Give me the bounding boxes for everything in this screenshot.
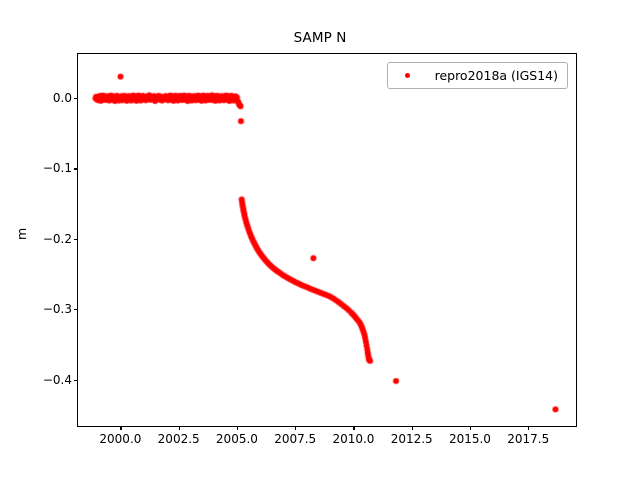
figure-canvas: SAMP N m repro2018a (IGS14) 2000.02002.5…	[0, 0, 640, 480]
y-tick-label: 0.0	[53, 91, 72, 105]
y-tick-mark	[74, 239, 78, 240]
x-tick-label: 2000.0	[99, 432, 141, 446]
legend-dot-icon	[405, 73, 410, 78]
legend-label-repro2018a: repro2018a (IGS14)	[435, 68, 558, 83]
legend[interactable]: repro2018a (IGS14)	[387, 62, 568, 89]
y-tick-label: −0.3	[43, 302, 72, 316]
x-tick-mark	[295, 426, 296, 430]
x-tick-label: 2010.0	[332, 432, 374, 446]
y-tick-label: −0.1	[43, 161, 72, 175]
y-tick-mark	[74, 168, 78, 169]
scatter-plot-canvas	[78, 54, 576, 426]
x-tick-mark	[470, 426, 471, 430]
y-tick-label: −0.4	[43, 373, 72, 387]
x-tick-mark	[528, 426, 529, 430]
y-tick-mark	[74, 309, 78, 310]
x-tick-mark	[120, 426, 121, 430]
x-tick-label: 2012.5	[391, 432, 433, 446]
x-tick-label: 2005.0	[216, 432, 258, 446]
plot-axes: repro2018a (IGS14) 2000.02002.52005.0200…	[77, 53, 577, 427]
y-tick-mark	[74, 98, 78, 99]
x-tick-mark	[179, 426, 180, 430]
y-tick-mark	[74, 380, 78, 381]
x-tick-label: 2015.0	[449, 432, 491, 446]
x-tick-mark	[237, 426, 238, 430]
x-tick-mark	[412, 426, 413, 430]
y-tick-label: −0.2	[43, 232, 72, 246]
x-tick-label: 2017.5	[507, 432, 549, 446]
x-tick-mark	[353, 426, 354, 430]
y-axis-label: m	[14, 228, 29, 240]
x-tick-label: 2002.5	[158, 432, 200, 446]
legend-marker-repro2018a	[395, 73, 421, 78]
page-title: SAMP N	[0, 30, 640, 46]
x-tick-label: 2007.5	[274, 432, 316, 446]
